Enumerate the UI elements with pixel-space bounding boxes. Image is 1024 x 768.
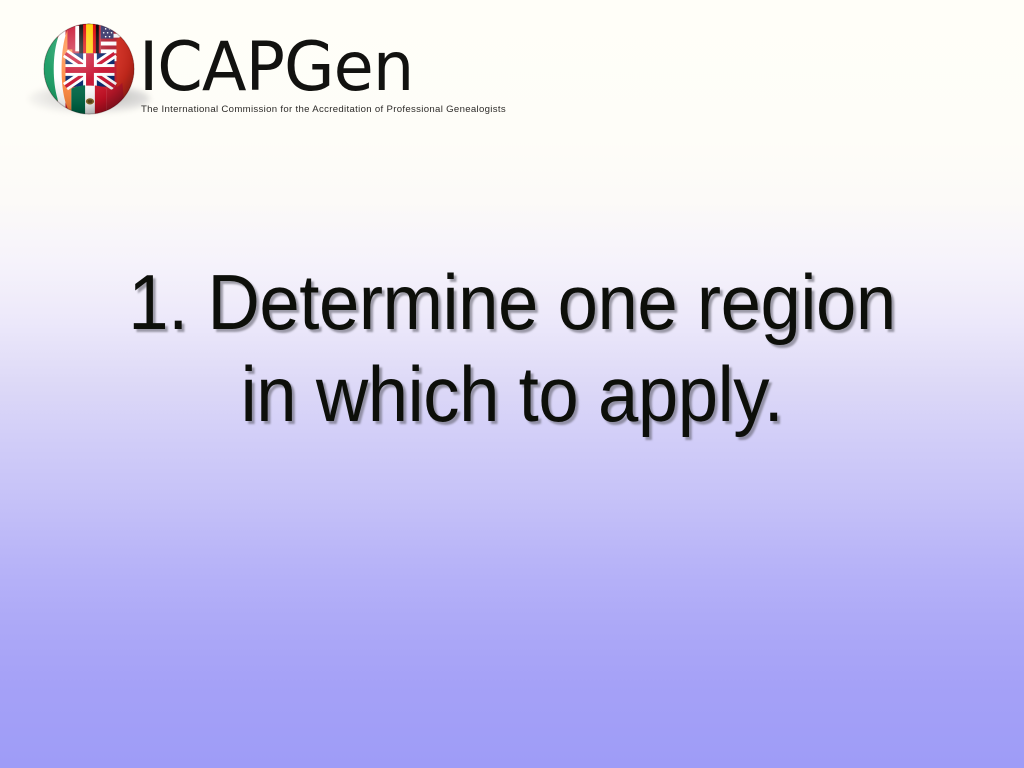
icapgen-tagline: The International Commission for the Acc… — [141, 104, 506, 116]
slide-title-line-1: 1. Determine one region — [36, 256, 988, 348]
slide-title-line-2: in which to apply. — [36, 348, 988, 440]
slide-title: 1. Determine one region in which to appl… — [0, 256, 1024, 440]
icapgen-logo[interactable]: ICAPGen The International Commission for… — [36, 14, 466, 130]
presentation-slide: ICAPGen The International Commission for… — [0, 0, 1024, 768]
icapgen-wordmark: ICAPGen — [139, 34, 413, 102]
flag-globe-icon — [40, 20, 138, 118]
